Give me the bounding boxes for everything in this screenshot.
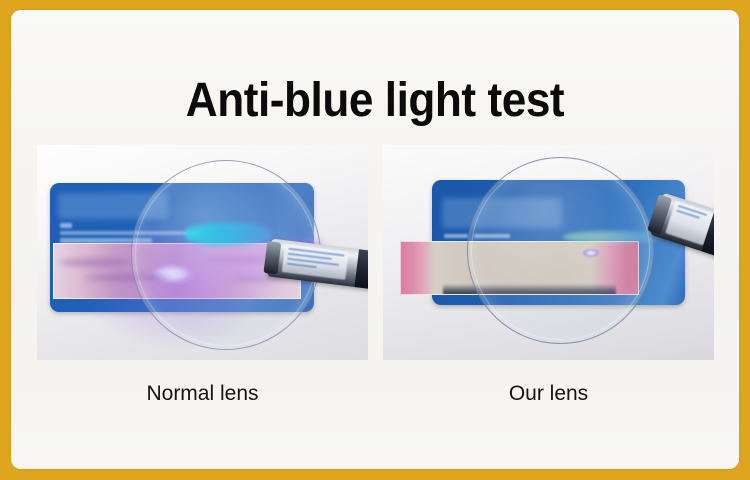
caption-our-lens: Our lens — [383, 380, 714, 408]
panel-captions: Normal lens Our lens — [37, 380, 714, 408]
caption-normal-lens: Normal lens — [37, 380, 368, 408]
panel-normal-lens — [37, 145, 368, 360]
lens-coating-flare-normal — [185, 223, 271, 245]
laser-tip — [263, 241, 281, 274]
lens-rim — [471, 161, 650, 340]
comparison-panels — [37, 145, 714, 360]
laser-label — [282, 244, 349, 280]
lens-coating-flare-our — [563, 231, 663, 243]
blocked-laser-dot — [583, 249, 599, 257]
laser-tail — [354, 249, 368, 289]
poster-frame: Anti-blue light test — [0, 0, 750, 480]
poster-inner-card: Anti-blue light test — [11, 10, 739, 469]
lens-our — [467, 157, 654, 344]
panel-our-lens — [383, 145, 714, 360]
page-title: Anti-blue light test — [40, 72, 710, 130]
